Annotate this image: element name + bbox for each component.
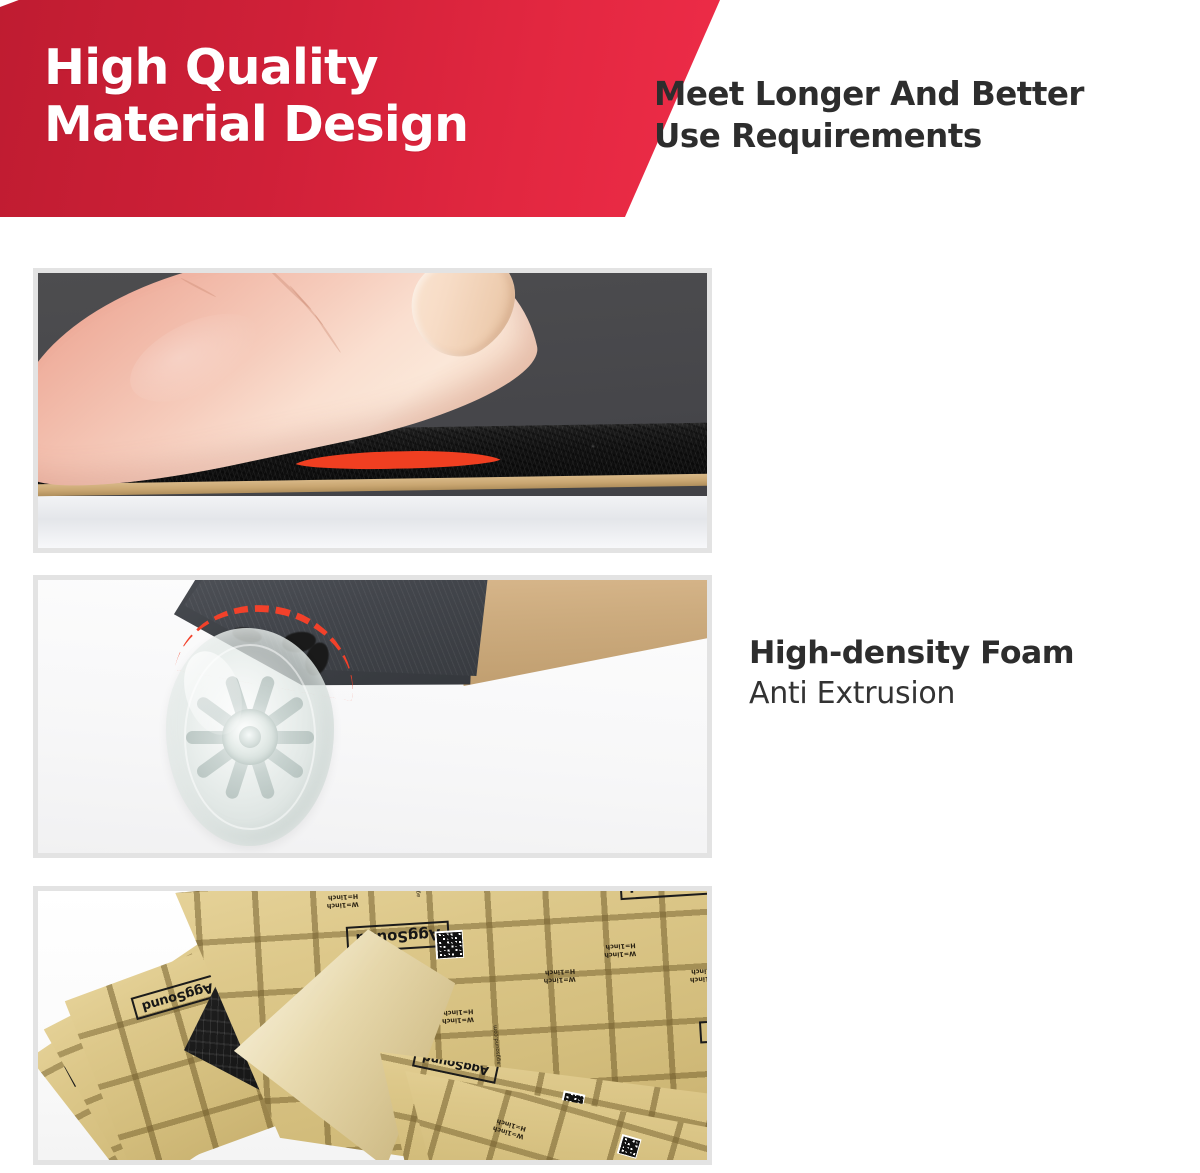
infographic-page: High Quality Material Design Meet Longer… [0, 0, 1200, 1173]
banner-title: High Quality Material Design [44, 40, 644, 154]
dimension-label: W=1inch H=1inch [604, 941, 637, 958]
dimension-label: W=1inch H=1inch [326, 892, 359, 909]
dimension-label: W=1inch H=1inch [689, 966, 707, 983]
photo-finger-pressing-foam [38, 273, 707, 548]
header-subtitle: Meet Longer And Better Use Requirements [654, 74, 1194, 157]
photo-white-surface [38, 496, 707, 548]
photo-frame-adhesive [33, 575, 712, 858]
header-subtitle-line-2: Use Requirements [654, 116, 1194, 158]
photo-bottle-stuck-to-foam [38, 580, 707, 853]
caption-high-density-foam: High-density Foam Anti Extrusion [749, 634, 1199, 713]
photo-frame-backing-paper: AggSound AggSound W=1inch H=1inch AggSou… [33, 886, 712, 1165]
dimension-label: W=1inch H=1inch [441, 1007, 474, 1024]
photo-peeling-backing-paper: AggSound AggSound W=1inch H=1inch AggSou… [38, 891, 707, 1160]
header-subtitle-line-1: Meet Longer And Better [654, 74, 1194, 116]
dimension-label: W=1inch H=1inch [543, 967, 576, 984]
finger-crease [314, 314, 341, 353]
banner-title-line-2: Material Design [44, 97, 644, 154]
fingernail [393, 273, 536, 374]
photo-frame-foam [33, 268, 712, 553]
finger-highlight [117, 296, 274, 420]
bottle-center-dimple [239, 726, 261, 748]
finger-crease [180, 277, 216, 298]
caption-subtitle: Anti Extrusion [749, 675, 1199, 712]
caption-title: High-density Foam [749, 634, 1199, 672]
banner-title-line-1: High Quality [44, 40, 644, 97]
header-banner: High Quality Material Design [0, 0, 720, 217]
qr-code-icon [435, 930, 465, 960]
